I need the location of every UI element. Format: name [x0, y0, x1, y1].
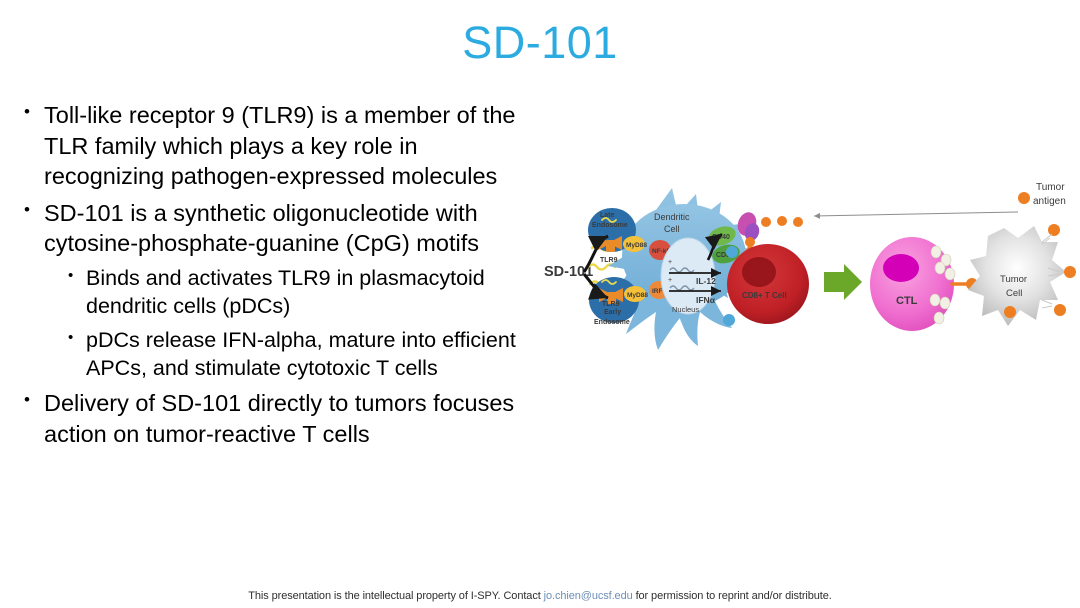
figure-label-ctl: CTL: [896, 295, 918, 307]
figure-label-tumor-cell: Tumor: [1000, 274, 1027, 285]
footer-email-link[interactable]: jo.chien@ucsf.edu: [544, 590, 633, 602]
figure-label-tumor-antigen: Tumor: [1036, 182, 1065, 193]
bullet-marker-icon: •: [24, 389, 44, 411]
figure-label-cd8-t-cell: CD8+ T Cell: [742, 291, 787, 300]
bullet-marker-icon: •: [24, 101, 44, 123]
bullet-item-2: • SD-101 is a synthetic oligonucleotide …: [24, 198, 536, 259]
cd8-t-cell-nucleus: [742, 257, 776, 287]
bullet-item-4: • pDCs release IFN-alpha, mature into ef…: [24, 327, 536, 383]
figure-label-tumor-cell-2: Cell: [1006, 288, 1022, 299]
figure-label-myd88-upper: MyD88: [626, 242, 647, 249]
page-title: SD-101: [0, 18, 1080, 68]
antigen-uptake-arrow: [814, 212, 1018, 216]
bullet-text-5: Delivery of SD-101 directly to tumors fo…: [44, 388, 536, 449]
figure-label-dendritic-cell: Dendritic: [654, 212, 690, 222]
figure-label-early-endosome: Early: [604, 309, 621, 316]
bullet-text-2: SD-101 is a synthetic oligonucleotide wi…: [44, 198, 536, 259]
figure-plus-upper: +: [668, 259, 672, 266]
figure-label-myd88-lower: MyD88: [627, 292, 648, 299]
tumor-antigen-swatch: [1018, 192, 1030, 204]
figure-label-dendritic-cell-2: Cell: [664, 224, 680, 234]
figure-plus-lower: +: [668, 277, 672, 284]
footer-text-before: This presentation is the intellectual pr…: [248, 590, 543, 602]
figure-label-ifna: IFNα: [696, 295, 716, 305]
bullet-item-1: • Toll-like receptor 9 (TLR9) is a membe…: [24, 100, 536, 192]
figure-label-tlr9-upper: TLR9: [600, 257, 618, 264]
bullet-item-3: • Binds and activates TLR9 in plasmacyto…: [24, 265, 536, 321]
free-antigen-dots: [761, 216, 803, 227]
differentiation-arrow-icon: [824, 264, 862, 300]
bullet-text-3: Binds and activates TLR9 in plasmacytoid…: [86, 265, 536, 321]
footer-text-after: for permission to reprint and/or distrib…: [633, 590, 832, 602]
bullet-marker-icon: •: [68, 266, 86, 286]
sd-101-mechanism-diagram: SD-101 Dendritic Cell Late Endosome TLR9…: [536, 172, 1080, 397]
bullet-marker-icon: •: [24, 199, 44, 221]
bullet-item-5: • Delivery of SD-101 directly to tumors …: [24, 388, 536, 449]
figure-label-irf: IRF: [652, 288, 663, 295]
bullet-text-4: pDCs release IFN-alpha, mature into effi…: [86, 327, 536, 383]
bullet-list: • Toll-like receptor 9 (TLR9) is a membe…: [24, 100, 536, 456]
figure-label-nucleus: Nucleus: [672, 305, 699, 314]
figure-label-early-endosome-2: Endosome: [594, 319, 630, 326]
figure-label-tlr9-lower: TLR9: [602, 301, 620, 308]
ctl-nucleus: [883, 254, 919, 282]
footer: This presentation is the intellectual pr…: [0, 590, 1080, 602]
figure-label-late-endosome-2: Endosome: [592, 222, 628, 229]
figure-label-il12: IL-12: [696, 276, 716, 286]
bullet-marker-icon: •: [68, 328, 86, 348]
bullet-text-1: Toll-like receptor 9 (TLR9) is a member …: [44, 100, 536, 192]
figure-label-tumor-antigen-2: antigen: [1033, 196, 1066, 207]
